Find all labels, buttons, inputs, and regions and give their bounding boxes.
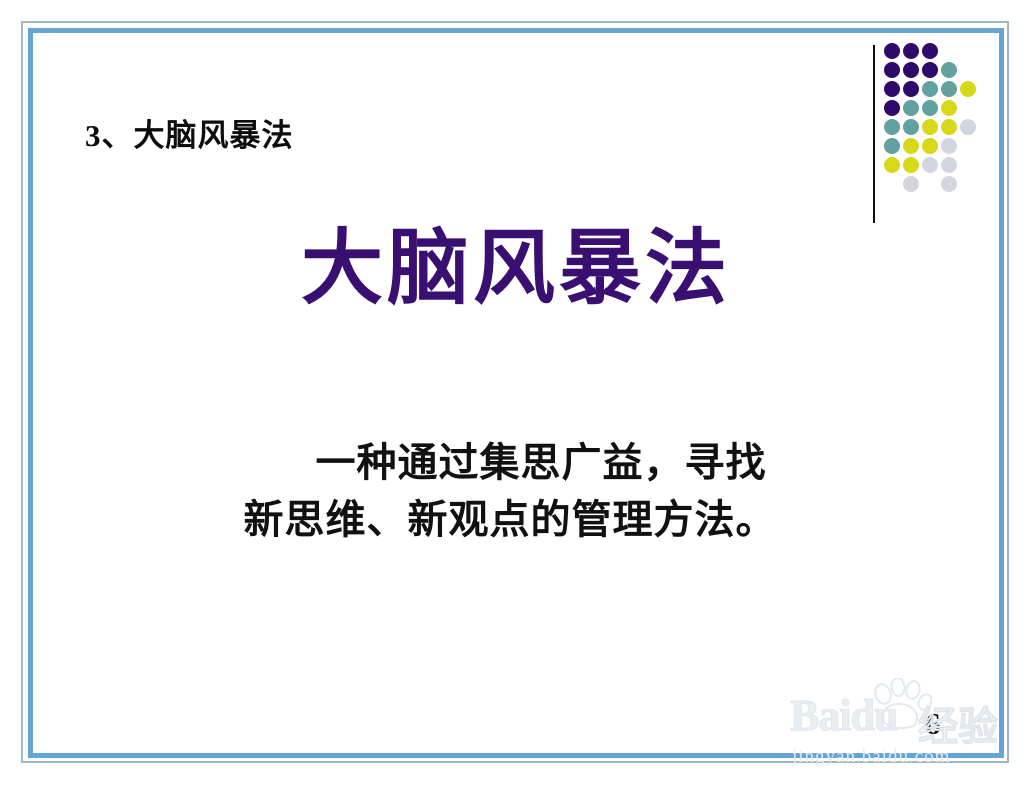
- motif-dot: [941, 138, 957, 154]
- motif-dot: [922, 81, 938, 97]
- motif-dot: [903, 43, 919, 59]
- motif-dot: [922, 157, 938, 173]
- motif-dot: [922, 138, 938, 154]
- body-text: 一种通过集思广益，寻找 新思维、新观点的管理方法。: [190, 435, 830, 549]
- motif-dot: [922, 100, 938, 116]
- vertical-rule-divider: [873, 45, 875, 223]
- motif-dot: [960, 119, 976, 135]
- motif-dot: [922, 119, 938, 135]
- body-text-line-2: 新思维、新观点的管理方法。: [190, 492, 830, 549]
- dot-grid-decoration: [866, 38, 986, 223]
- motif-dot: [903, 81, 919, 97]
- motif-dot: [903, 119, 919, 135]
- motif-dot: [903, 176, 919, 192]
- page-number: 6: [925, 706, 941, 742]
- motif-dot: [922, 43, 938, 59]
- section-heading: 3、大脑风暴法: [85, 110, 294, 155]
- motif-dot: [922, 62, 938, 78]
- slide-canvas: 3、大脑风暴法 大脑风暴法 一种通过集思广益，寻找 新思维、新观点的管理方法。 …: [0, 0, 1032, 790]
- motif-dot: [884, 157, 900, 173]
- body-text-line-1: 一种通过集思广益，寻找: [190, 435, 830, 492]
- motif-dot: [884, 43, 900, 59]
- motif-dot: [941, 100, 957, 116]
- dot-grid: [884, 43, 984, 203]
- motif-dot: [884, 81, 900, 97]
- baidu-watermark: Baidu 经验 jingyan.baidu.com: [790, 678, 1025, 778]
- watermark-wordmark: Baidu: [790, 690, 898, 741]
- motif-dot: [884, 119, 900, 135]
- motif-dot: [884, 138, 900, 154]
- motif-dot: [941, 62, 957, 78]
- motif-dot: [903, 62, 919, 78]
- motif-dot: [903, 138, 919, 154]
- motif-dot: [941, 81, 957, 97]
- motif-dot: [884, 62, 900, 78]
- motif-dot: [941, 119, 957, 135]
- motif-dot: [941, 157, 957, 173]
- page-title: 大脑风暴法: [0, 228, 1032, 310]
- watermark-url: jingyan.baidu.com: [792, 746, 950, 768]
- motif-dot: [903, 100, 919, 116]
- motif-dot: [903, 157, 919, 173]
- motif-dot: [960, 81, 976, 97]
- motif-dot: [941, 176, 957, 192]
- paw-print-icon: [870, 678, 932, 730]
- motif-dot: [884, 100, 900, 116]
